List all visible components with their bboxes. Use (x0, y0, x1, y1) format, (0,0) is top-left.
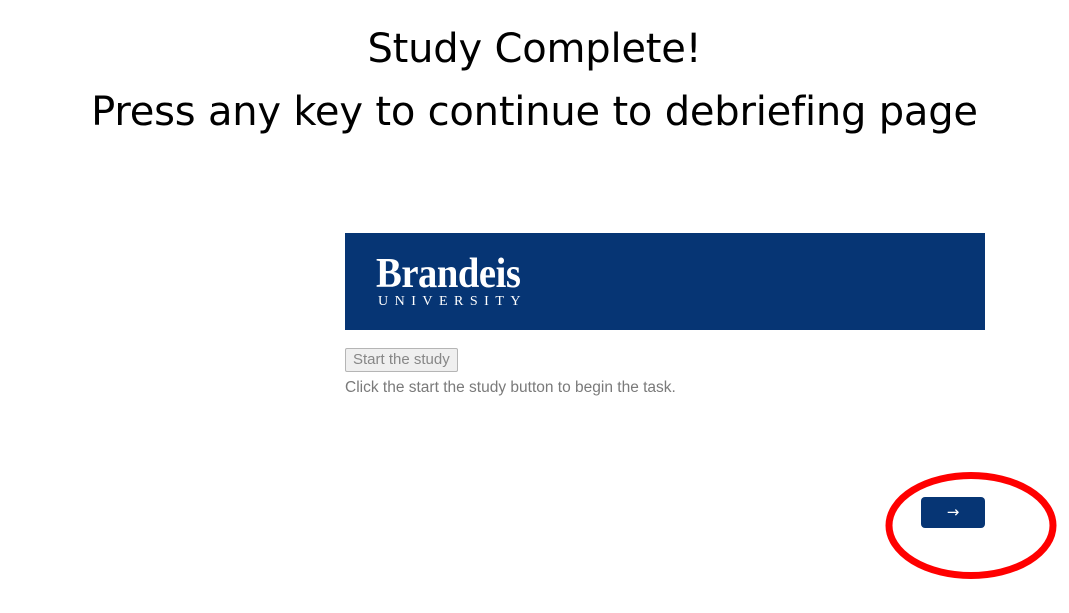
experiment-stimulus-frame: Brandeis UNIVERSITY Start the study Clic… (345, 233, 985, 397)
continue-arrow-button[interactable]: → (921, 497, 985, 528)
instructions-block: Study Complete! Press any key to continu… (0, 0, 1069, 132)
brandeis-subwordmark: UNIVERSITY (378, 295, 527, 309)
page-title: Study Complete! (0, 29, 1069, 69)
brandeis-logo-banner: Brandeis UNIVERSITY (345, 233, 985, 330)
continue-instruction-text: Press any key to continue to debriefing … (0, 92, 1069, 132)
brandeis-wordmark: Brandeis (376, 253, 520, 295)
start-study-hint: Click the start the study button to begi… (345, 379, 985, 397)
start-study-row: Start the study Click the start the stud… (345, 348, 985, 397)
start-study-button[interactable]: Start the study (345, 348, 458, 372)
